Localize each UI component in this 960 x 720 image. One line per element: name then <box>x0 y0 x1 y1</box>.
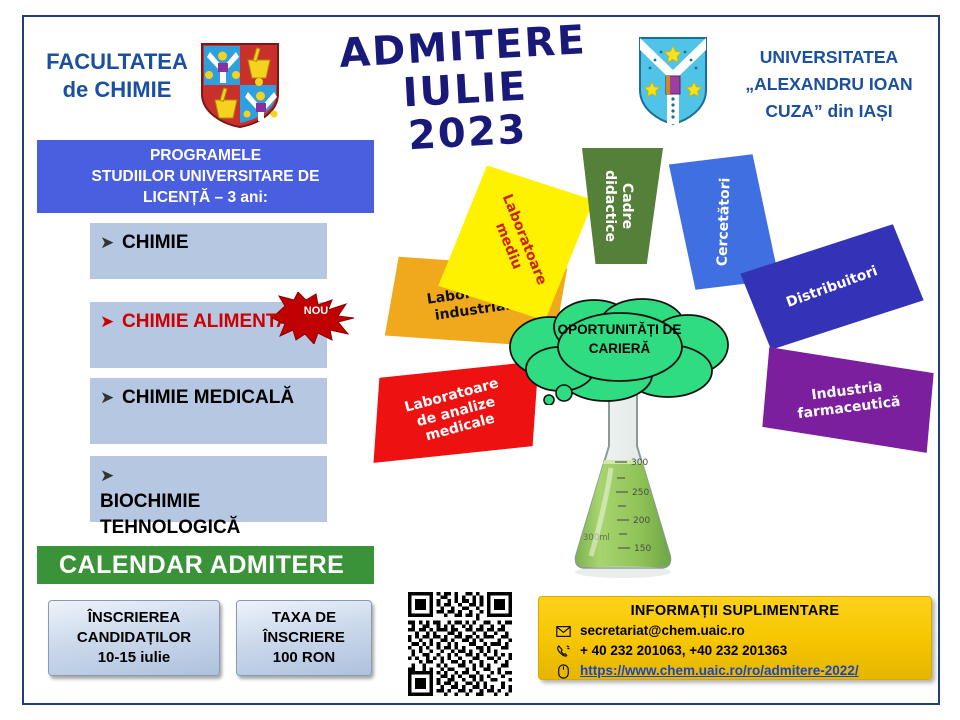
ray-label-line2: didactice <box>601 170 618 242</box>
career-cloud-line1: OPORTUNITĂȚI DE <box>522 320 717 339</box>
info-row-phone: + 40 232 201063, +40 232 201363 <box>547 641 923 661</box>
ray-label-line1: Cadre <box>618 183 635 229</box>
mouse-icon <box>555 663 571 679</box>
additional-info-box: INFORMAȚII SUPLIMENTARE secretariat@chem… <box>538 596 932 680</box>
qr-code-icon[interactable] <box>408 592 512 696</box>
career-opportunities-diagram: Laboratoare de analize medicale Laborato… <box>372 140 942 580</box>
flask-graduation-300: 300 <box>631 458 648 468</box>
career-cloud-label: OPORTUNITĂȚI DE CARIERĂ <box>522 320 717 358</box>
ray-industria-farmaceutica: Industria farmaceutică <box>762 347 933 453</box>
info-row-website: https://www.chem.uaic.ro/ro/admitere-202… <box>547 661 923 681</box>
calendar-bar: CALENDAR ADMITERE <box>37 546 374 584</box>
nou-badge-label: NOU <box>304 305 329 317</box>
university-title: UNIVERSITATEA „ALEXANDRU IOAN CUZA” din … <box>716 44 942 125</box>
bullet-icon: ➤ <box>100 385 122 411</box>
university-title-line2: „ALEXANDRU IOAN <box>716 71 942 98</box>
program-item-chimie[interactable]: ➤CHIMIE <box>90 223 327 279</box>
university-title-line1: UNIVERSITATEA <box>716 44 942 71</box>
career-cloud-line2: CARIERĂ <box>522 339 717 358</box>
university-title-line3: CUZA” din IAȘI <box>716 98 942 125</box>
bullet-icon: ➤ <box>100 230 122 256</box>
flask-graduation-250: 250 <box>632 488 649 498</box>
ray-label-line1: Distribuitori <box>784 263 880 311</box>
faculty-title: FACULTATEA de CHIMIE <box>32 48 202 104</box>
email-text[interactable]: secretariat@chem.uaic.ro <box>580 621 745 641</box>
faculty-title-line2: de CHIMIE <box>32 76 202 104</box>
enrollment-line1: ÎNSCRIEREA <box>88 608 181 628</box>
faculty-coat-of-arms-icon <box>198 42 282 128</box>
faculty-title-line1: FACULTATEA <box>32 48 202 76</box>
info-box-title: INFORMAȚII SUPLIMENTARE <box>547 603 923 619</box>
nou-badge-star-icon: NOU <box>272 292 354 344</box>
programs-heading-line1: PROGRAMELE <box>41 145 370 166</box>
website-link[interactable]: https://www.chem.uaic.ro/ro/admitere-202… <box>580 661 859 681</box>
enrollment-line3: 10-15 iulie <box>98 648 171 668</box>
page-title: ADMITERE IULIE 2023 <box>302 17 628 153</box>
calendar-bar-label: CALENDAR ADMITERE <box>59 551 344 580</box>
program-label: BIOCHIMIE TEHNOLOGICĂ <box>100 489 321 541</box>
programs-heading-line2: STUDIILOR UNIVERSITARE DE <box>41 166 370 187</box>
fee-line3: 100 RON <box>273 648 336 668</box>
programs-heading: PROGRAMELE STUDIILOR UNIVERSITARE DE LIC… <box>37 140 374 213</box>
program-label: CHIMIE MEDICALĂ <box>122 385 294 411</box>
programs-heading-line3: LICENȚĂ – 3 ani: <box>41 187 370 208</box>
telephone-icon <box>555 643 571 659</box>
fee-line1: TAXA DE <box>272 608 336 628</box>
info-row-email: secretariat@chem.uaic.ro <box>547 621 923 641</box>
admissions-poster: FACULTATEA de CHIMIE <box>0 0 960 720</box>
enrollment-line2: CANDIDAȚILOR <box>77 628 191 648</box>
flask-graduation-150: 150 <box>634 544 651 554</box>
enrollment-period-button[interactable]: ÎNSCRIEREA CANDIDAȚILOR 10-15 iulie <box>48 600 220 676</box>
uaic-coat-of-arms-icon <box>637 36 709 126</box>
program-item-biochimie-tehnologica[interactable]: ➤BIOCHIMIE TEHNOLOGICĂ <box>90 456 327 522</box>
envelope-icon <box>555 623 571 639</box>
ray-label-line1: Cercetători <box>714 177 734 266</box>
program-item-chimie-medicala[interactable]: ➤CHIMIE MEDICALĂ <box>90 378 327 444</box>
program-label: CHIMIE <box>122 230 189 256</box>
bullet-icon: ➤ <box>100 309 122 335</box>
erlenmeyer-flask-icon: 300 250 200 150 300ml <box>567 388 679 580</box>
bullet-icon: ➤ <box>100 463 122 489</box>
fee-line2: ÎNSCRIERE <box>263 628 345 648</box>
phone-text: + 40 232 201063, +40 232 201363 <box>580 641 787 661</box>
enrollment-fee-button[interactable]: TAXA DE ÎNSCRIERE 100 RON <box>236 600 372 676</box>
flask-graduation-200: 200 <box>633 516 650 526</box>
